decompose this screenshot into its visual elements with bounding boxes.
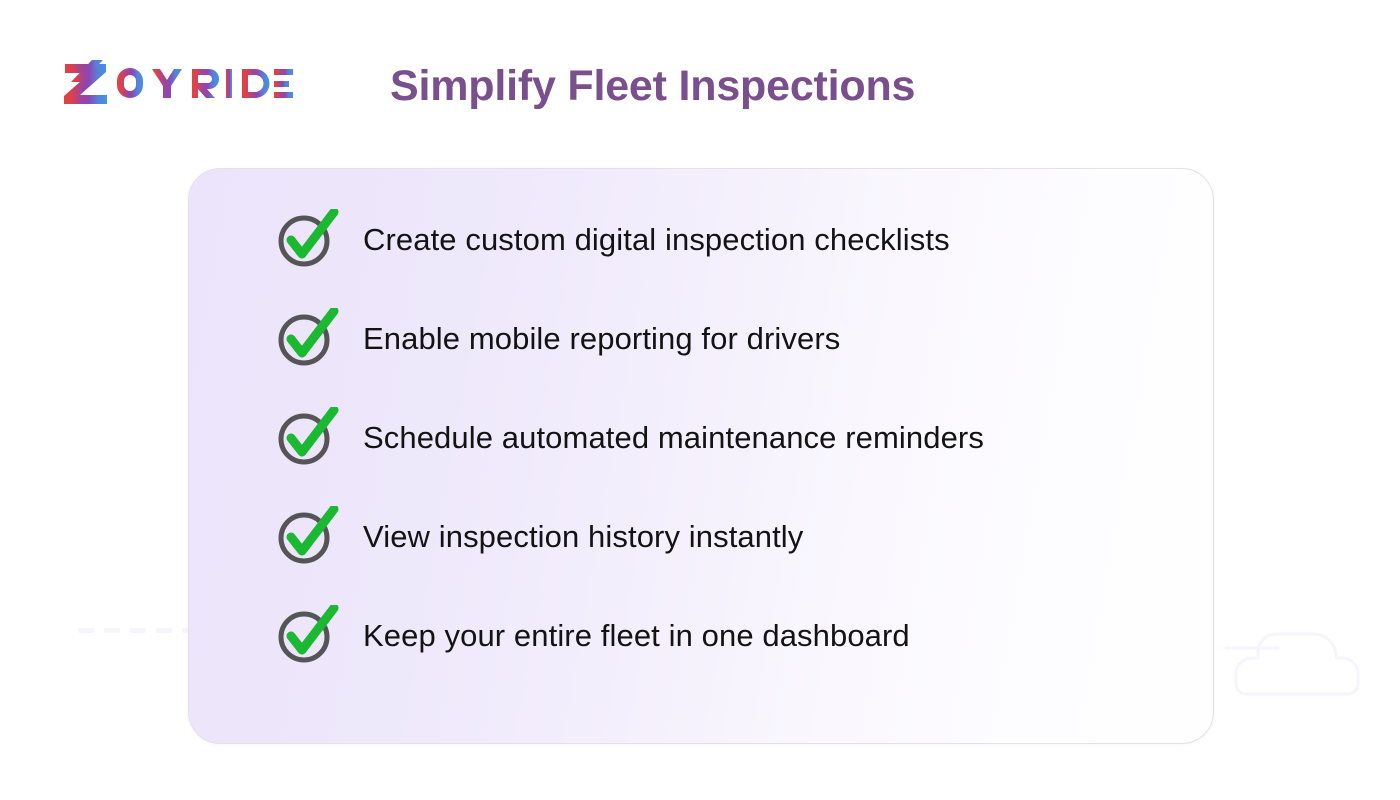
list-item-label: Create custom digital inspection checkli… <box>363 224 950 255</box>
car-outline-watermark <box>1220 602 1388 722</box>
list-item: Schedule automated maintenance reminders <box>277 407 1177 467</box>
list-item-label: View inspection history instantly <box>363 521 803 552</box>
zoyride-logo <box>62 60 294 106</box>
header: Simplify Fleet Inspections <box>0 0 1400 150</box>
dashed-road-line <box>78 628 198 634</box>
feature-list: Create custom digital inspection checkli… <box>277 209 1177 665</box>
green-check-circle-icon <box>277 506 339 566</box>
list-item: Enable mobile reporting for drivers <box>277 308 1177 368</box>
list-item-label: Keep your entire fleet in one dashboard <box>363 620 910 651</box>
page-title: Simplify Fleet Inspections <box>390 62 915 111</box>
green-check-circle-icon <box>277 308 339 368</box>
green-check-circle-icon <box>277 209 339 269</box>
list-item: View inspection history instantly <box>277 506 1177 566</box>
feature-card: Create custom digital inspection checkli… <box>188 168 1214 744</box>
green-check-circle-icon <box>277 605 339 665</box>
list-item: Keep your entire fleet in one dashboard <box>277 605 1177 665</box>
list-item-label: Enable mobile reporting for drivers <box>363 323 840 354</box>
list-item: Create custom digital inspection checkli… <box>277 209 1177 269</box>
list-item-label: Schedule automated maintenance reminders <box>363 422 984 453</box>
green-check-circle-icon <box>277 407 339 467</box>
slide-canvas: Simplify Fleet Inspections Create cus <box>0 0 1400 800</box>
